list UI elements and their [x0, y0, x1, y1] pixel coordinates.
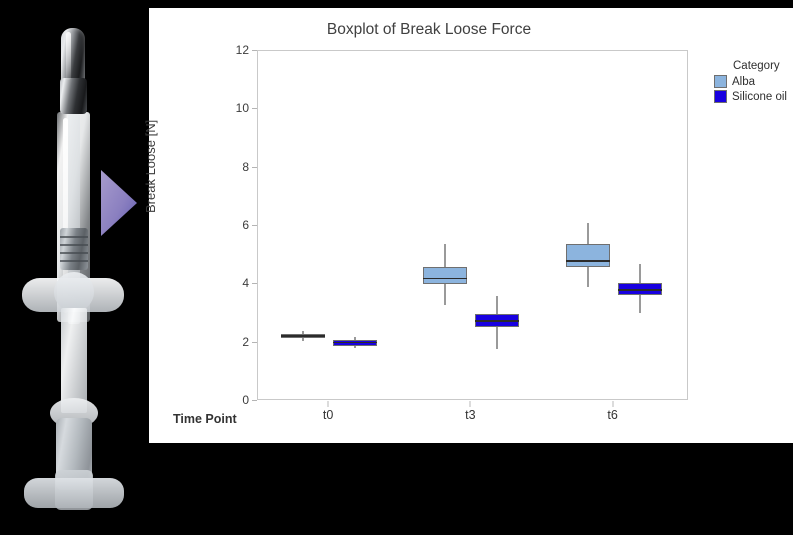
legend-label: Alba: [732, 76, 755, 88]
boxplot-median: [618, 289, 662, 291]
y-tick-mark: [252, 400, 257, 401]
syringe-stopper-ring: [60, 252, 88, 254]
x-tick-label: t0: [323, 408, 333, 422]
legend-entry[interactable]: Alba: [714, 75, 787, 88]
syringe-illustration: [0, 0, 150, 535]
boxplot-median: [475, 320, 519, 322]
legend: Category AlbaSilicone oil: [714, 60, 787, 105]
syringe-stopper-ring: [60, 244, 88, 246]
boxplot-box: [566, 244, 610, 267]
boxplot-box: [423, 267, 467, 285]
legend-title: Category: [733, 60, 787, 72]
boxplot-median: [281, 335, 325, 337]
y-tick-label: 2: [223, 335, 249, 349]
chart-title: Boxplot of Break Loose Force: [149, 21, 709, 39]
syringe-cap-highlight: [66, 32, 71, 80]
legend-entries: AlbaSilicone oil: [714, 75, 787, 103]
syringe-flange-collar: [54, 272, 94, 312]
y-tick-label: 0: [223, 393, 249, 407]
y-tick-label: 6: [223, 218, 249, 232]
plot-area: [257, 50, 688, 400]
syringe-base-foot: [24, 478, 124, 508]
y-tick-label: 10: [223, 101, 249, 115]
x-tick-label: t3: [465, 408, 475, 422]
x-tick-mark: [328, 401, 329, 407]
x-axis-title: Time Point: [173, 412, 237, 426]
syringe-stopper-ring: [60, 260, 88, 262]
syringe-stopper: [60, 228, 88, 270]
boxplot-median: [423, 278, 467, 280]
x-tick-mark: [612, 401, 613, 407]
y-tick-label: 8: [223, 160, 249, 174]
x-tick-mark: [470, 401, 471, 407]
legend-swatch: [714, 90, 727, 103]
legend-entry[interactable]: Silicone oil: [714, 90, 787, 103]
screenshot-root: Boxplot of Break Loose Force Break Loose…: [0, 0, 793, 535]
boxplot-median: [333, 342, 377, 344]
legend-swatch: [714, 75, 727, 88]
chart-panel: Boxplot of Break Loose Force Break Loose…: [149, 8, 793, 443]
legend-label: Silicone oil: [732, 91, 787, 103]
boxplot-median: [566, 260, 610, 262]
syringe-photo: [0, 0, 150, 535]
y-tick-label: 12: [223, 43, 249, 57]
x-tick-label: t6: [607, 408, 617, 422]
y-tick-label: 4: [223, 276, 249, 290]
syringe-plunger-cap: [61, 28, 85, 83]
syringe-stopper-ring: [60, 236, 88, 238]
syringe-plunger-band: [60, 78, 87, 114]
y-axis-label: Break Loose [N]: [143, 120, 158, 213]
